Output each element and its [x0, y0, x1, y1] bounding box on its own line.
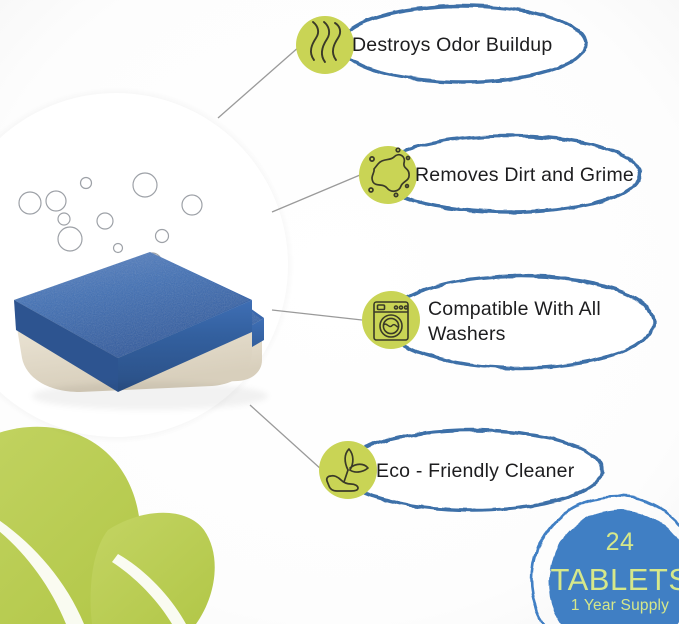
badge-unit: TABLETS — [535, 564, 679, 595]
feature-ellipse-odor — [341, 6, 585, 82]
feature-card-eco[interactable] — [319, 430, 602, 510]
feature-card-odor[interactable] — [296, 6, 585, 82]
infographic-canvas: Destroys Odor Buildup Removes Dirt and G… — [0, 0, 679, 624]
washing-machine-icon — [362, 291, 420, 349]
dirt-splat-icon — [359, 146, 417, 204]
badge-supply: 1 Year Supply — [545, 598, 679, 614]
hand-leaf-icon — [319, 441, 377, 499]
odor-waves-icon — [296, 16, 354, 74]
badge-count: 24 — [560, 530, 679, 555]
feature-card-dirt[interactable] — [359, 136, 640, 212]
feature-ellipse-washers — [386, 276, 654, 368]
feature-ellipse-eco — [342, 430, 602, 510]
feature-card-washers[interactable] — [362, 276, 654, 368]
